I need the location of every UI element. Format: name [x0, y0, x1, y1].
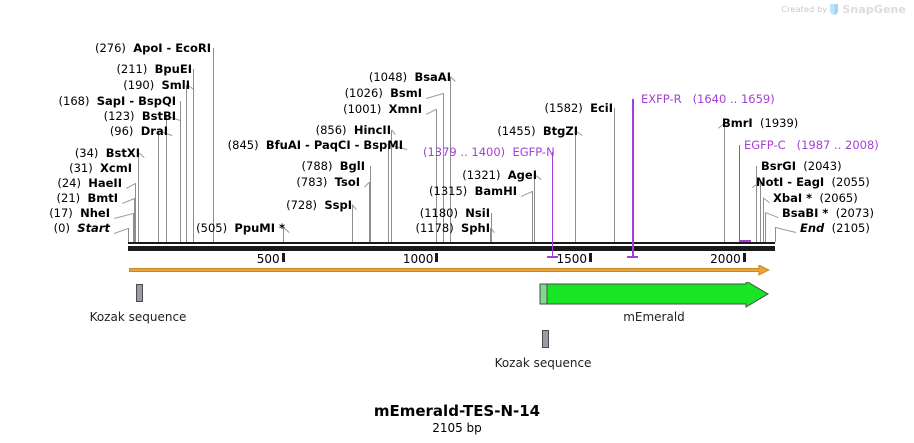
watermark-brand: SnapGene — [842, 3, 906, 16]
feature-range-label: EGFP-C (1987 .. 2008) — [744, 139, 879, 151]
site-position: (34) — [75, 146, 106, 160]
snapgene-watermark: Created by SnapGene — [781, 3, 906, 16]
restriction-site-label: (24) HaeII — [57, 177, 122, 189]
site-enzyme-name: SphI — [461, 221, 490, 235]
site-enzyme-name: NsiI — [465, 206, 490, 220]
restriction-site-label: (1321) AgeI — [462, 169, 537, 181]
plasmid-length: 2105 bp — [0, 421, 914, 435]
restriction-site-label: (1001) XmnI — [343, 103, 422, 115]
feature-connector — [739, 145, 741, 242]
site-tick-line — [135, 183, 136, 242]
feature-caption: mEmerald — [623, 310, 685, 324]
site-enzyme-name: DraI — [141, 124, 168, 138]
site-enzyme-name: BsmI — [390, 86, 422, 100]
restriction-site-label: (190) SmlI — [123, 79, 190, 91]
site-leader-line — [426, 93, 444, 99]
feature-range-label: EXFP-R (1640 .. 1659) — [641, 93, 775, 105]
feature-range: (1640 .. 1659) — [693, 92, 775, 106]
feature-caption: Kozak sequence — [90, 310, 187, 324]
site-enzyme-name: BglI — [340, 159, 365, 173]
site-tick-line — [724, 123, 725, 242]
site-position: (211) — [116, 62, 154, 76]
site-leader-line — [763, 197, 770, 203]
site-enzyme-name: SspI — [324, 198, 352, 212]
restriction-site-label: (34) BstXI — [75, 147, 140, 159]
feature-name: EGFP-C — [744, 138, 797, 152]
site-enzyme-name: XcmI — [100, 161, 132, 175]
site-enzyme-name: XmnI — [389, 102, 422, 116]
restriction-site-label: BmrI (1939) — [722, 117, 798, 129]
watermark-created-label: Created by — [781, 5, 827, 14]
site-position: (17) — [49, 206, 80, 220]
site-enzyme-name: BstBI — [142, 109, 176, 123]
feature-range-label: (1379 .. 1400) EGFP-N — [423, 146, 555, 158]
ruler-tick-label: 1000 — [403, 252, 434, 266]
site-position: (2073) — [828, 206, 874, 220]
restriction-site-label: (168) SapI - BspQI — [59, 95, 176, 107]
site-tick-line — [138, 153, 139, 242]
site-enzyme-name: BamHI — [475, 184, 517, 198]
site-position: (788) — [302, 159, 340, 173]
site-tick-line — [491, 213, 492, 242]
site-position: (1001) — [343, 102, 389, 116]
ruler-tick-label: 500 — [257, 252, 280, 266]
ruler-tick-label: 2000 — [710, 252, 741, 266]
site-position: (1178) — [415, 221, 461, 235]
site-leader-line — [114, 228, 128, 234]
snapgene-leaf-icon — [830, 4, 839, 15]
restriction-site-label: (96) DraI — [110, 125, 168, 137]
site-position: (1939) — [753, 116, 799, 130]
site-tick-line — [213, 48, 214, 242]
site-enzyme-name: XbaI * — [773, 191, 812, 205]
site-position: (0) — [54, 221, 78, 235]
restriction-site-label: (21) BmtI — [57, 192, 118, 204]
feature-foot — [547, 256, 558, 258]
site-position: (845) — [228, 138, 266, 152]
feature-name: EXFP-R — [641, 92, 693, 106]
site-position: (728) — [286, 198, 324, 212]
site-enzyme-name: BsaBI * — [782, 206, 828, 220]
site-position: (1026) — [345, 86, 391, 100]
site-enzyme-name: Start — [77, 221, 110, 235]
feature-foot — [739, 240, 751, 242]
restriction-site-label: (728) SspI — [286, 199, 352, 211]
restriction-site-label: (123) BstBI — [104, 110, 176, 122]
site-tick-line — [158, 131, 159, 242]
site-enzyme-name: HaeII — [88, 176, 122, 190]
site-position: (2105) — [824, 221, 870, 235]
site-position: (276) — [95, 41, 133, 55]
site-enzyme-name: SapI - BspQI — [97, 94, 176, 108]
site-position: (24) — [57, 176, 88, 190]
site-enzyme-name: BsrGI — [761, 159, 796, 173]
site-enzyme-name: BfuAI - PaqCI - BspMI — [266, 138, 403, 152]
restriction-site-label: (1315) BamHI — [429, 185, 517, 197]
site-enzyme-name: TsoI — [335, 175, 360, 189]
site-position: (783) — [296, 175, 334, 189]
restriction-site-label: NotI - EagI (2055) — [756, 176, 870, 188]
site-position: (1180) — [420, 206, 466, 220]
site-tick-line — [532, 191, 533, 242]
ruler-tick-label: 1500 — [556, 252, 587, 266]
ruler-tick — [743, 253, 746, 262]
site-tick-line — [388, 145, 389, 242]
site-tick-line — [765, 213, 766, 242]
site-position: (2065) — [812, 191, 858, 205]
site-leader-line — [521, 191, 533, 197]
feature-range: (1379 .. 1400) — [423, 145, 512, 159]
site-enzyme-name: BtgZI — [543, 124, 578, 138]
restriction-site-label: (1048) BsaAI — [369, 71, 451, 83]
site-enzyme-name: BmtI — [87, 191, 118, 205]
site-tick-line — [370, 166, 371, 242]
restriction-site-label: (845) BfuAI - PaqCI - BspMI — [228, 139, 403, 151]
restriction-site-label: (1026) BsmI — [345, 87, 422, 99]
site-position: (2055) — [824, 175, 870, 189]
plasmid-map: Created by SnapGene 500100015002000 (0) … — [0, 0, 914, 443]
ruler-tick — [589, 253, 592, 262]
site-enzyme-name: BsaAI — [414, 70, 451, 84]
restriction-site-label: (1455) BtgZI — [497, 125, 578, 137]
ruler-tick — [435, 253, 438, 262]
site-leader-line — [126, 183, 136, 189]
site-tick-line — [775, 228, 776, 242]
site-position: (1582) — [545, 101, 591, 115]
site-enzyme-name: HincII — [354, 123, 391, 137]
restriction-site-label: XbaI * (2065) — [773, 192, 858, 204]
site-enzyme-name: BmrI — [722, 116, 753, 130]
backbone-bar — [128, 246, 775, 251]
site-leader-line — [122, 198, 135, 204]
site-position: (190) — [123, 78, 161, 92]
restriction-site-label: End (2105) — [800, 222, 870, 234]
kozak-sequence-marker — [136, 284, 143, 302]
feature-caption: Kozak sequence — [495, 356, 592, 370]
site-position: (1315) — [429, 184, 475, 198]
restriction-site-label: BsaBI * (2073) — [782, 207, 874, 219]
restriction-site-label: BsrGI (2043) — [761, 160, 842, 172]
site-tick-line — [760, 182, 761, 242]
site-position: (2043) — [796, 159, 842, 173]
site-position: (21) — [57, 191, 88, 205]
feature-foot — [627, 256, 638, 258]
restriction-site-label: (211) BpuEI — [116, 63, 192, 75]
feature-connector — [552, 152, 554, 256]
site-enzyme-name: End — [800, 221, 824, 235]
restriction-site-label: (505) PpuMI * — [196, 222, 285, 234]
site-enzyme-name: AgeI — [508, 168, 537, 182]
site-position: (505) — [196, 221, 234, 235]
site-enzyme-name: PpuMI * — [234, 221, 285, 235]
site-position: (1048) — [369, 70, 415, 84]
page-title: mEmerald-TES-N-14 — [0, 402, 914, 420]
site-tick-line — [186, 85, 187, 242]
site-tick-line — [614, 108, 615, 242]
backbone-line — [128, 242, 775, 244]
site-tick-line — [180, 101, 181, 242]
restriction-site-label: (788) BglI — [302, 160, 365, 172]
site-leader-line — [775, 227, 796, 233]
site-enzyme-name: NotI - EagI — [756, 175, 824, 189]
restriction-site-label: (276) ApoI - EcoRI — [95, 42, 211, 54]
site-position: (123) — [104, 109, 142, 123]
feature-connector — [632, 99, 634, 256]
site-position: (168) — [59, 94, 97, 108]
kozak-sequence-marker — [542, 330, 549, 348]
site-position: (856) — [316, 123, 354, 137]
site-position: (1455) — [497, 124, 543, 138]
restriction-site-label: (1582) EciI — [545, 102, 613, 114]
site-tick-line — [534, 175, 535, 242]
restriction-site-label: (856) HincII — [316, 124, 391, 136]
feature-range: (1987 .. 2008) — [797, 138, 879, 152]
site-enzyme-name: BstXI — [106, 146, 140, 160]
restriction-site-label: (0) Start — [54, 222, 110, 234]
restriction-site-label: (1180) NsiI — [420, 207, 490, 219]
site-tick-line — [128, 228, 129, 242]
site-enzyme-name: BpuEI — [155, 62, 192, 76]
site-position: (31) — [69, 161, 100, 175]
site-enzyme-name: ApoI - EcoRI — [133, 41, 211, 55]
site-tick-line — [193, 69, 194, 242]
restriction-site-label: (17) NheI — [49, 207, 110, 219]
feature-name: EGFP-N — [512, 145, 554, 159]
site-leader-line — [765, 212, 778, 218]
site-leader-line — [114, 213, 133, 219]
site-position: (1321) — [462, 168, 508, 182]
site-enzyme-name: SmlI — [162, 78, 191, 92]
site-leader-line — [426, 109, 436, 115]
site-tick-line — [763, 198, 764, 242]
restriction-site-label: (31) XcmI — [69, 162, 132, 174]
site-enzyme-name: NheI — [80, 206, 110, 220]
site-tick-line — [575, 131, 576, 242]
ruler-tick — [282, 253, 285, 262]
restriction-site-label: (783) TsoI — [296, 176, 360, 188]
restriction-site-label: (1178) SphI — [415, 222, 490, 234]
site-enzyme-name: EciI — [590, 101, 613, 115]
site-position: (96) — [110, 124, 141, 138]
